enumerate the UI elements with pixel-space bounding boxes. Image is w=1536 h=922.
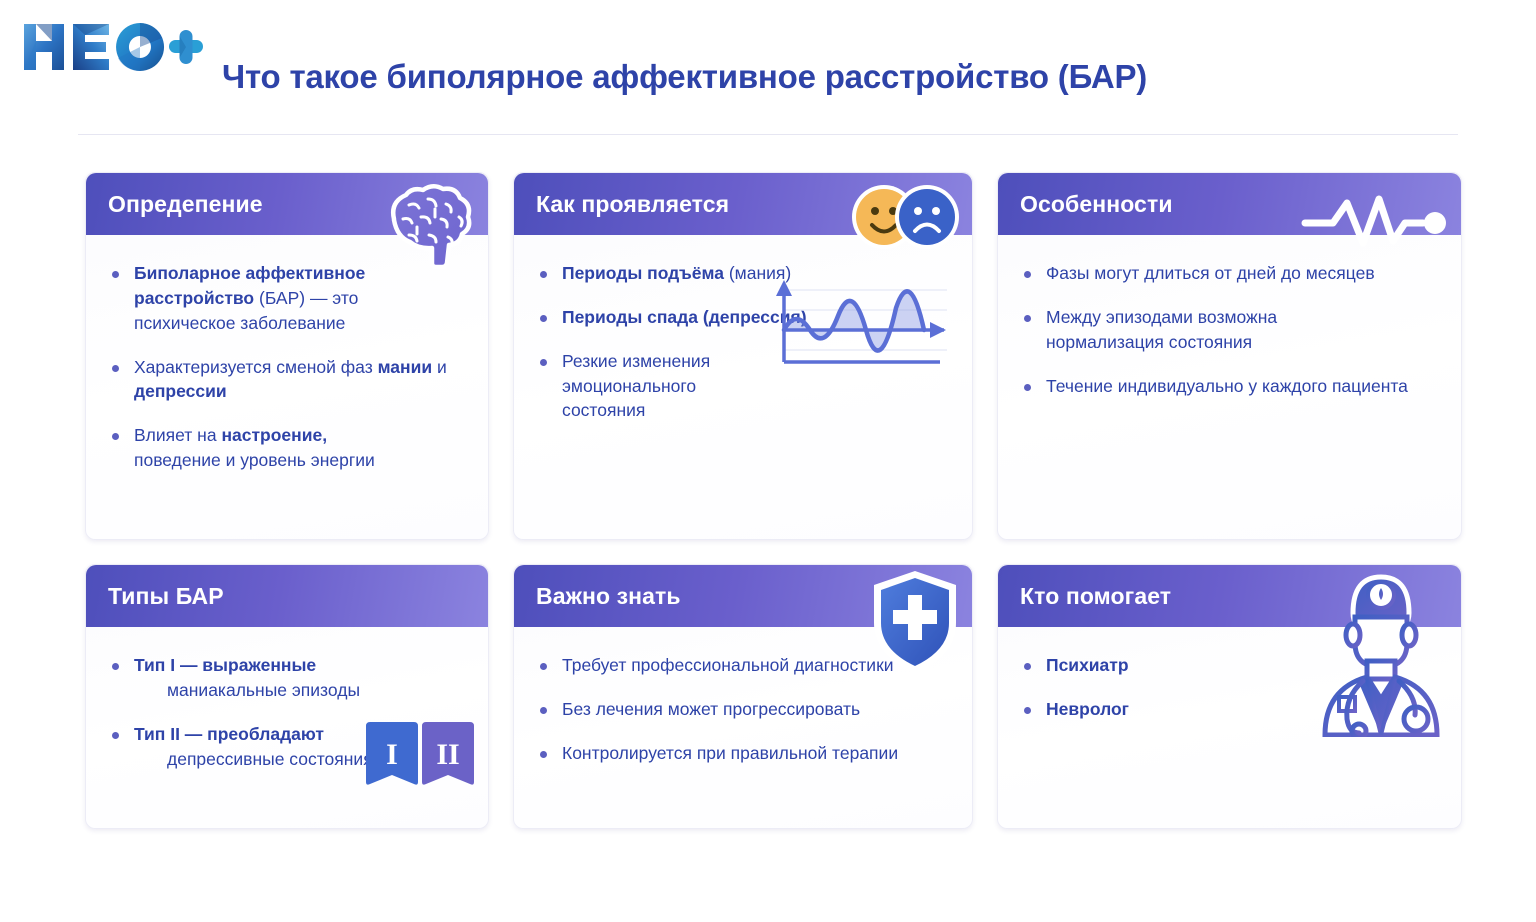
card-manifestation: Как проявляется Период xyxy=(513,172,973,540)
doctor-icon xyxy=(1311,569,1451,737)
list-item: Влияет на настроение,поведение и уровень… xyxy=(110,423,464,473)
bullet-bold-text: Периоды подъёма xyxy=(562,263,724,283)
type-badges-icon: I II xyxy=(364,720,476,792)
list-item: Резкие изменения эмоционального состояни… xyxy=(538,349,783,424)
bullet-regular-text: Между эпизодами возможна нормализация со… xyxy=(1046,307,1277,352)
shield-cross-icon xyxy=(870,569,960,675)
card-title-definition: Опредепение xyxy=(108,191,263,218)
card-important: Важно знать Требует профессиональной xyxy=(513,564,973,829)
bullet-bold-text: мании xyxy=(378,357,433,377)
bullet-regular-text: Требует профессиональной диагностики xyxy=(562,655,894,675)
smiley-sad-faces-icon xyxy=(844,181,964,253)
card-title-features: Особенности xyxy=(1020,191,1173,218)
badge-label-2: II xyxy=(436,738,459,771)
bullet-regular-text: и xyxy=(432,357,447,377)
bullet-bold-text: депрессии xyxy=(134,381,227,401)
bullet-indent-text: маниакальные эпизоды xyxy=(134,678,464,703)
list-item: Между эпизодами возможна нормализация со… xyxy=(1022,305,1322,355)
bullet-bold-text: Тип II — преобладают xyxy=(134,724,324,744)
list-item: Тип I — выраженные маниакальные эпизоды xyxy=(110,653,464,703)
card-body-types: Тип I — выраженные маниакальные эпизоды … xyxy=(86,627,488,808)
card-definition: Опредепение xyxy=(85,172,489,540)
bullet-tail-text: поведение и уровень энергии xyxy=(134,448,464,473)
bullet-bold-text: настроение, xyxy=(221,425,327,445)
card-header-who-helps: Кто помогает xyxy=(998,565,1461,627)
card-header-features: Особенности xyxy=(998,173,1461,235)
cards-grid: Опредепение xyxy=(85,172,1457,829)
page-title: Что такое биполярное аффективное расстро… xyxy=(222,58,1147,96)
bullet-regular-text: Резкие изменения эмоционального состояни… xyxy=(562,351,710,421)
page-header: Что такое биполярное аффективное расстро… xyxy=(0,0,1536,137)
card-body-features: Фазы могут длиться от дней до месяцев Ме… xyxy=(998,235,1461,435)
card-body-manifestation: Периоды подъёма (мания) Периоды спада (д… xyxy=(514,235,972,460)
card-header-types: Типы БАР xyxy=(86,565,488,627)
list-item: Характеризуется сменой фаз мании и депре… xyxy=(110,355,464,405)
card-title-types: Типы БАР xyxy=(108,583,224,610)
card-who-helps: Кто помогает xyxy=(997,564,1462,829)
card-types: Типы БАР Тип I — выраженные маниакальные… xyxy=(85,564,489,829)
title-divider xyxy=(78,134,1458,135)
card-header-definition: Опредепение xyxy=(86,173,488,235)
card-title-important: Важно знать xyxy=(536,583,681,610)
neo-plus-logo[interactable] xyxy=(18,18,203,76)
badge-label-1: I xyxy=(386,738,398,771)
card-title-manifestation: Как проявляется xyxy=(536,191,729,218)
bullet-regular-text: Влияет на xyxy=(134,425,221,445)
bullet-regular-text: Течение индивидуально у каждого пациента xyxy=(1046,376,1408,396)
bullet-regular-text: Контролируется при правильной терапии xyxy=(562,743,898,763)
bullet-regular-text: Без лечения может прогрессировать xyxy=(562,699,860,719)
mood-wave-chart-icon xyxy=(762,272,952,372)
bullet-regular-text: Характеризуется сменой фаз xyxy=(134,357,378,377)
list-item: Фазы могут длиться от дней до месяцев xyxy=(1022,261,1437,286)
card-header-important: Важно знать xyxy=(514,565,972,627)
card-body-definition: Биполарное аффективное расстройство (БАР… xyxy=(86,235,488,510)
bullet-list-features: Фазы могут длиться от дней до месяцев Ме… xyxy=(1022,261,1437,398)
pulse-line-icon xyxy=(1301,187,1451,253)
bullet-bold-text: Тип I — выраженные xyxy=(134,655,316,675)
bullet-bold-text: Невролог xyxy=(1046,699,1129,719)
list-item: Биполарное аффективное расстройство (БАР… xyxy=(110,261,464,336)
brain-icon xyxy=(376,177,484,269)
list-item: Контролируется при правильной терапии xyxy=(538,741,948,766)
card-header-manifestation: Как проявляется xyxy=(514,173,972,235)
bullet-regular-text: Фазы могут длиться от дней до месяцев xyxy=(1046,263,1375,283)
list-item: Течение индивидуально у каждого пациента xyxy=(1022,374,1437,399)
bullet-list-definition: Биполарное аффективное расстройство (БАР… xyxy=(110,261,464,473)
card-features: Особенности Фазы могут длиться от дней д… xyxy=(997,172,1462,540)
bullet-bold-text: Психиатр xyxy=(1046,655,1129,675)
list-item: Без лечения может прогрессировать xyxy=(538,697,948,722)
card-title-who-helps: Кто помогает xyxy=(1020,583,1171,610)
